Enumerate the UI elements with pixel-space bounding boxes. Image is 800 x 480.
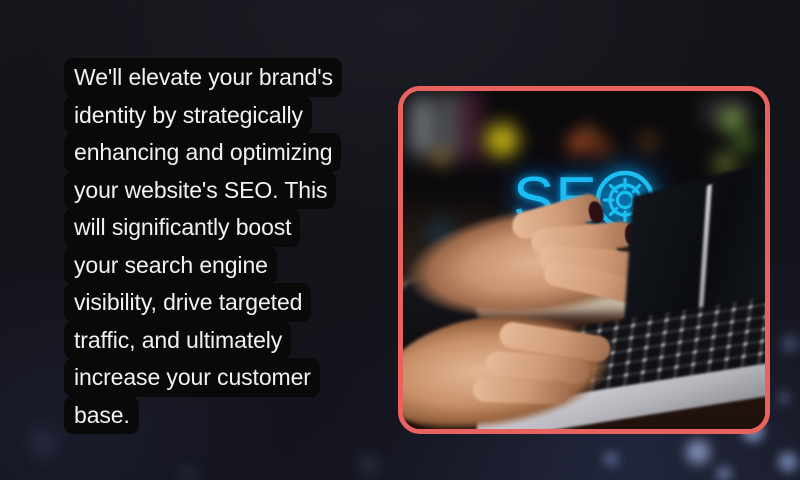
bokeh-particle xyxy=(30,430,56,456)
bokeh-particle xyxy=(778,392,790,404)
bokeh-light xyxy=(433,149,449,165)
bokeh-light xyxy=(409,97,437,155)
bokeh-particle xyxy=(716,466,732,480)
bokeh-light xyxy=(581,127,595,141)
copy-line: enhancing and optimizing xyxy=(64,133,341,172)
bokeh-particle xyxy=(778,452,798,472)
finger xyxy=(473,377,570,404)
bokeh-particle xyxy=(604,452,618,466)
photo-frame: S E xyxy=(398,86,770,434)
bokeh-particle xyxy=(782,336,798,352)
bokeh-light xyxy=(641,135,655,149)
copy-line: We'll elevate your brand's xyxy=(64,58,342,97)
headline-copy-block: We'll elevate your brand's identity by s… xyxy=(64,58,364,433)
copy-line: base. xyxy=(64,396,139,435)
bokeh-particle xyxy=(180,466,196,480)
bokeh-light xyxy=(735,133,753,151)
bokeh-light xyxy=(485,123,519,157)
bokeh-particle xyxy=(686,440,710,464)
copy-line: identity by strategically xyxy=(64,96,312,135)
slide-canvas: We'll elevate your brand's identity by s… xyxy=(0,0,800,480)
bokeh-particle xyxy=(360,456,378,474)
seo-photo: S E xyxy=(403,91,765,429)
copy-line: your website's SEO. This xyxy=(64,171,336,210)
copy-line: visibility, drive targeted xyxy=(64,283,311,322)
copy-line: will significantly boost xyxy=(64,208,300,247)
bokeh-light xyxy=(465,91,479,161)
copy-line: increase your customer xyxy=(64,358,320,397)
bokeh-light xyxy=(593,139,609,155)
bokeh-light xyxy=(443,93,459,157)
copy-line: traffic, and ultimately xyxy=(64,321,291,360)
copy-line: your search engine xyxy=(64,246,277,285)
bokeh-light xyxy=(721,109,743,131)
